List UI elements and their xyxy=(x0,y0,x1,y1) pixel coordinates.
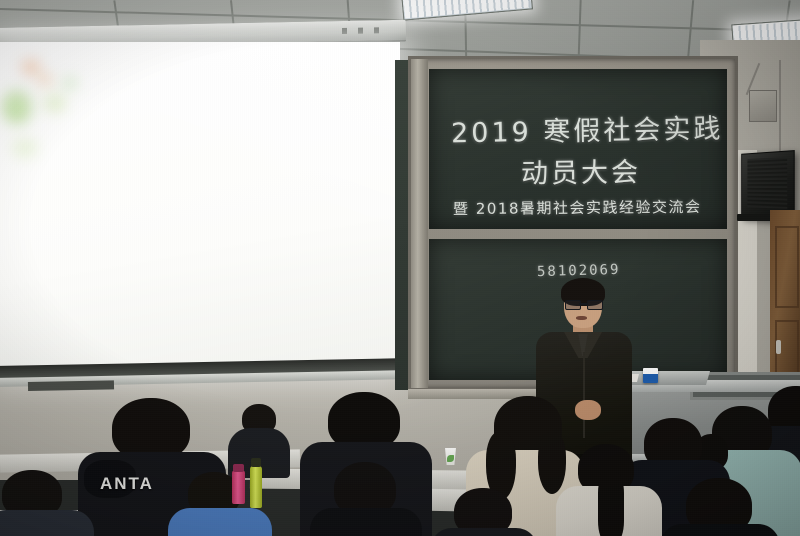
classroom-photo: 2019 寒假社会实践 动员大会 暨 2018暑期社会实践经验交流会 58102… xyxy=(0,0,800,536)
student-ponytail-hair xyxy=(598,472,624,536)
blackboard-vertical-divider xyxy=(411,59,428,388)
student-head xyxy=(112,398,190,460)
presenter-hands xyxy=(575,400,601,420)
green-water-bottle xyxy=(250,466,262,508)
blackboard-subtitle: 暨 2018暑期社会实践经验交流会 xyxy=(453,196,702,219)
chalk-box-icon xyxy=(643,368,658,383)
door-knob-icon[interactable] xyxy=(776,340,781,354)
projection-screen xyxy=(0,42,400,372)
blackboard-upper-panel: 2019 寒假社会实践 动员大会 暨 2018暑期社会实践经验交流会 xyxy=(429,69,727,229)
screen-control-buttons[interactable] xyxy=(342,27,388,34)
student-torso xyxy=(660,524,780,536)
student-torso xyxy=(310,508,422,536)
blackboard-title-line-1: 2019 寒假社会实践 xyxy=(451,107,724,151)
presenter-jacket-zipper xyxy=(583,352,585,438)
student-torso xyxy=(168,508,272,536)
eyeglasses-icon xyxy=(565,300,601,308)
blackboard-left-panel xyxy=(395,60,409,390)
presenter-mouth xyxy=(576,316,587,320)
bottle-cap xyxy=(251,458,261,467)
cup-leaf-logo-icon xyxy=(447,455,454,462)
student-hair-drape xyxy=(538,432,566,494)
blackboard-title-line-2: 动员大会 xyxy=(521,150,641,190)
wall-vent-icon xyxy=(749,90,777,122)
student-torso xyxy=(430,528,538,536)
student-torso xyxy=(0,510,94,536)
pink-thermos-bottle xyxy=(232,470,245,504)
thermos-cap xyxy=(233,464,244,472)
screen-rail-bracket xyxy=(28,380,114,391)
jacket-brand-text: ANTA xyxy=(100,474,154,494)
